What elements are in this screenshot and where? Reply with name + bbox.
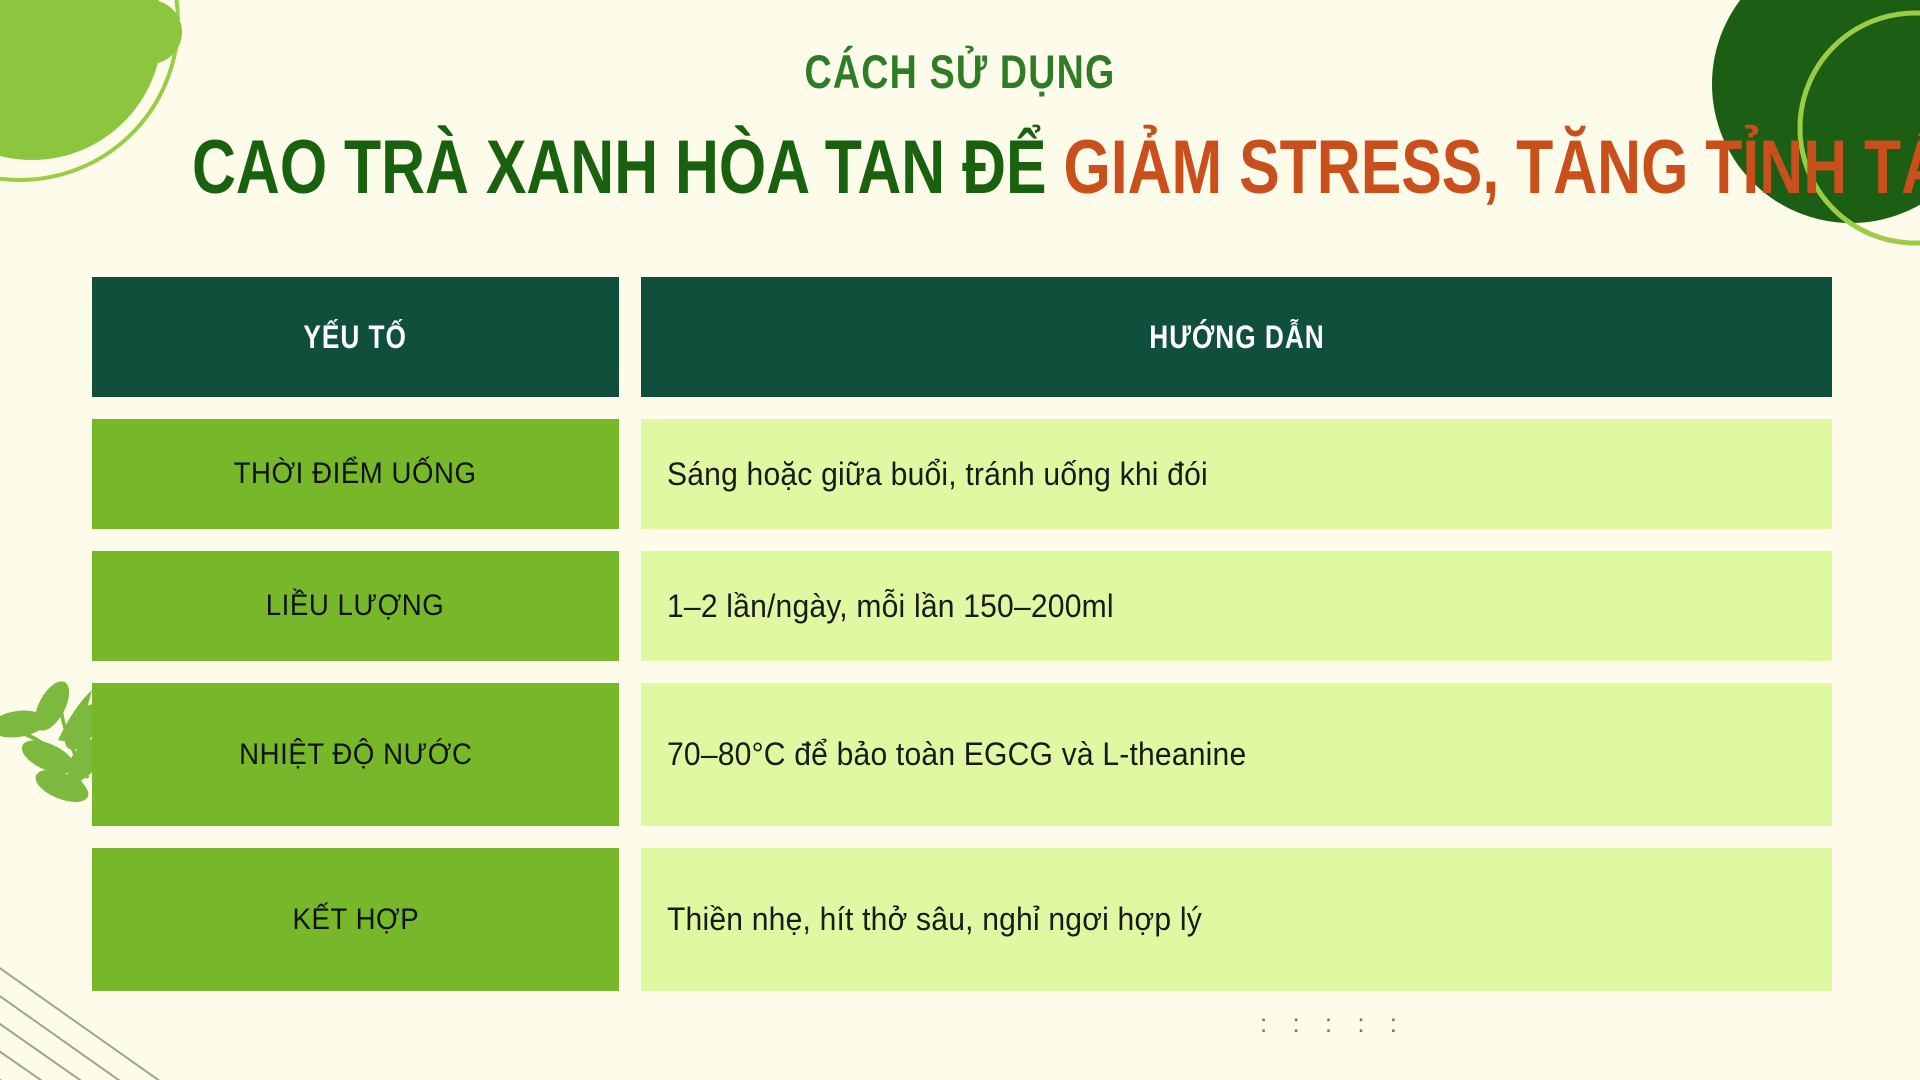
table-cell-key: THỜI ĐIỂM UỐNG [92, 419, 619, 529]
page-title: CAO TRÀ XANH HÒA TAN ĐỂ GIẢM STRESS, TĂN… [192, 124, 1728, 211]
table-header-cell-factor: YẾU TỐ [92, 277, 619, 397]
table-key-label: NHIỆT ĐỘ NƯỚC [239, 738, 472, 772]
table-cell-key: KẾT HỢP [92, 848, 619, 991]
arc-topleft-outline [0, 0, 178, 180]
usage-table: YẾU TỐ HƯỚNG DẪN THỜI ĐIỂM UỐNG Sáng hoặ… [92, 277, 1832, 991]
table-header-label-guide: HƯỚNG DẪN [1149, 319, 1324, 356]
table-value-label: 1–2 lần/ngày, mỗi lần 150–200ml [667, 588, 1114, 625]
circle-topleft-small [118, 0, 182, 64]
table-value-label: 70–80°C để bảo toàn EGCG và L-theanine [667, 736, 1246, 773]
table-row: KẾT HỢP Thiền nhẹ, hít thở sâu, nghỉ ngơ… [92, 848, 1832, 991]
table-cell-value: Thiền nhẹ, hít thở sâu, nghỉ ngơi hợp lý [641, 848, 1832, 991]
circle-topleft-large [0, 0, 162, 160]
table-cell-value: 1–2 lần/ngày, mỗi lần 150–200ml [641, 551, 1832, 661]
table-cell-value: Sáng hoặc giữa buổi, tránh uống khi đói [641, 419, 1832, 529]
table-key-label: KẾT HỢP [292, 903, 419, 937]
table-cell-value: 70–80°C để bảo toàn EGCG và L-theanine [641, 683, 1832, 826]
table-row: NHIỆT ĐỘ NƯỚC 70–80°C để bảo toàn EGCG v… [92, 683, 1832, 826]
dots-decoration: : : : : : [1260, 1008, 1406, 1039]
page-title-green-part: CAO TRÀ XANH HÒA TAN ĐỂ [192, 125, 1047, 210]
eyebrow-text: CÁCH SỬ DỤNG [192, 44, 1728, 99]
table-cell-key: LIỀU LƯỢNG [92, 551, 619, 661]
table-key-label: THỜI ĐIỂM UỐNG [234, 457, 477, 491]
table-value-label: Sáng hoặc giữa buổi, tránh uống khi đói [667, 456, 1208, 493]
page-title-orange-part: GIẢM STRESS, TĂNG TỈNH TÁO [1063, 125, 1920, 210]
table-key-label: LIỀU LƯỢNG [266, 589, 445, 623]
table-header-label-factor: YẾU TỐ [304, 319, 408, 356]
table-row: LIỀU LƯỢNG 1–2 lần/ngày, mỗi lần 150–200… [92, 551, 1832, 661]
table-value-label: Thiền nhẹ, hít thở sâu, nghỉ ngơi hợp lý [667, 901, 1202, 938]
table-cell-key: NHIỆT ĐỘ NƯỚC [92, 683, 619, 826]
table-header-row: YẾU TỐ HƯỚNG DẪN [92, 277, 1832, 397]
table-row: THỜI ĐIỂM UỐNG Sáng hoặc giữa buổi, trán… [92, 419, 1832, 529]
table-header-cell-guide: HƯỚNG DẪN [641, 277, 1832, 397]
